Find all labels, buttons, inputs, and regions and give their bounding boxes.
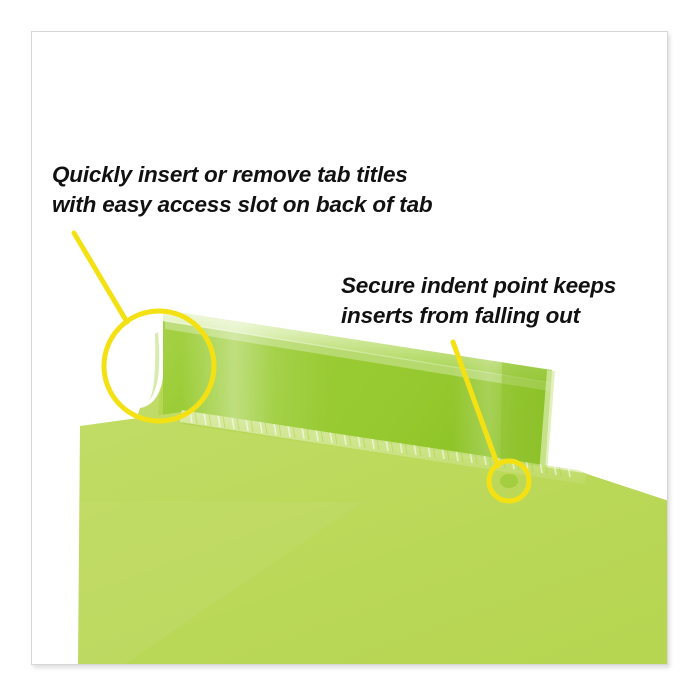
callout-indent-point-line2: inserts from falling out	[341, 301, 616, 331]
product-feature-graphic: Inserts Won’t Fall Out	[0, 0, 700, 700]
divider-illustration	[32, 32, 667, 664]
callout-tab-slot-line2: with easy access slot on back of tab	[52, 190, 432, 220]
callout-indent-point: Secure indent point keeps inserts from f…	[341, 271, 616, 331]
callout-tab-slot: Quickly insert or remove tab titles with…	[52, 160, 432, 220]
product-photo	[32, 32, 667, 664]
product-photo-frame	[31, 31, 668, 665]
callout-indent-point-line1: Secure indent point keeps	[341, 271, 616, 301]
leader-line-tab-slot	[74, 233, 127, 322]
indent-point-dimple	[500, 474, 518, 488]
callout-tab-slot-line1: Quickly insert or remove tab titles	[52, 160, 432, 190]
